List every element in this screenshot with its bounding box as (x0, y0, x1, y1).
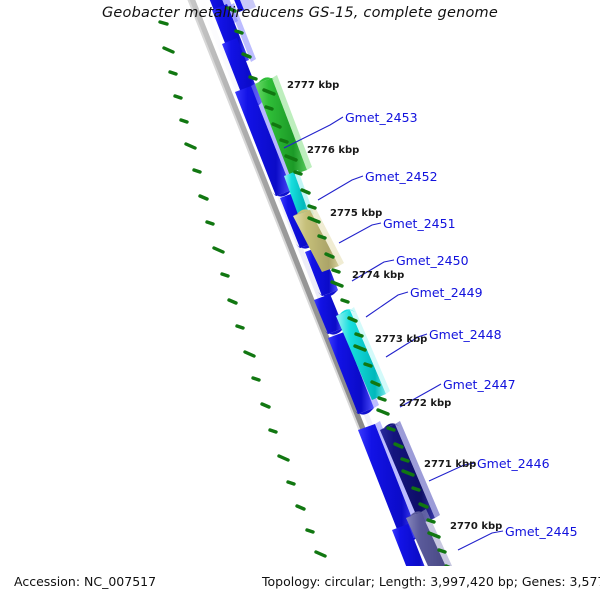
leader-line (366, 292, 408, 317)
status-bar: Accession: NC_007517 Topology: circular;… (0, 566, 600, 600)
gene-label-gmet-2447[interactable]: Gmet_2447 (443, 377, 516, 392)
ruler-tick-label: 2775 kbp (330, 208, 382, 219)
page-title: Geobacter metallireducens GS-15, complet… (0, 5, 600, 21)
gene-label-gmet-2452[interactable]: Gmet_2452 (365, 169, 438, 184)
ruler-tick-label: 2770 kbp (450, 521, 502, 532)
gene-label-gmet-2451[interactable]: Gmet_2451 (383, 216, 456, 231)
gene-label-gmet-2450[interactable]: Gmet_2450 (396, 253, 469, 268)
leader-line (318, 176, 363, 200)
ruler-tick-label: 2773 kbp (375, 334, 427, 345)
gene-label-gmet-2448[interactable]: Gmet_2448 (429, 327, 502, 342)
ruler-tick-label: 2771 kbp (424, 459, 476, 470)
ruler-tick-label: 2776 kbp (307, 145, 359, 156)
ruler-tick-label: 2777 kbp (287, 80, 339, 91)
genome-summary-text: Topology: circular; Length: 3,997,420 bp… (262, 574, 600, 589)
accession-text: Accession: NC_007517 (14, 574, 156, 589)
gene-label-gmet-2453[interactable]: Gmet_2453 (345, 110, 418, 125)
ruler-tick-label: 2772 kbp (399, 398, 451, 409)
genome-map-canvas[interactable]: Geobacter metallireducens GS-15, complet… (0, 0, 600, 600)
leader-line (339, 223, 381, 243)
ruler-tick-label: 2774 kbp (352, 270, 404, 281)
gene-label-gmet-2446[interactable]: Gmet_2446 (477, 456, 550, 471)
leader-line (458, 531, 503, 550)
gene-label-gmet-2449[interactable]: Gmet_2449 (410, 285, 483, 300)
gene-label-gmet-2445[interactable]: Gmet_2445 (505, 524, 578, 539)
